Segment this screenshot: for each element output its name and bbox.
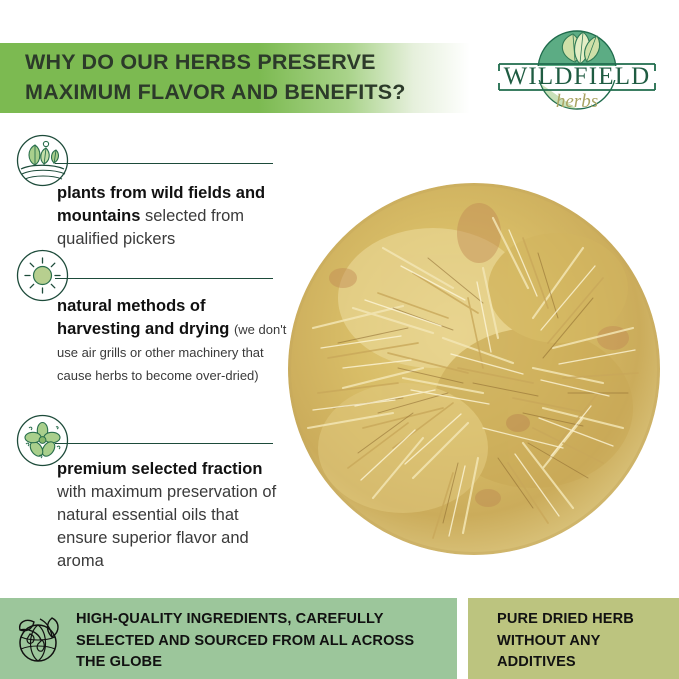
feature-strong-2: natural methods of harvesting and drying (57, 297, 229, 338)
globe-leaf-icon (12, 610, 68, 666)
banner-left: HIGH-QUALITY INGREDIENTS, CAREFULLY SELE… (0, 598, 457, 679)
page-title: WHY DO OUR HERBS PRESERVE MAXIMUM FLAVOR… (25, 47, 445, 107)
divider-rule-2 (55, 278, 273, 279)
feature-light-3: with maximum preservation of natural ess… (57, 483, 276, 570)
logo-wordmark: WILDFIELD (487, 64, 667, 89)
brand-logo: WILDFIELD herbs (487, 24, 667, 120)
feature-text-3: premium selected fraction with maximum p… (57, 458, 292, 573)
feature-strong-3: premium selected fraction (57, 460, 262, 478)
banner-right-text: PURE DRIED HERB WITHOUT ANY ADDITIVES (497, 609, 672, 674)
banner-left-text: HIGH-QUALITY INGREDIENTS, CAREFULLY SELE… (76, 609, 446, 674)
divider-rule-1 (55, 163, 273, 164)
feature-text-1: plants from wild fields and mountains se… (57, 182, 292, 251)
feature-text-2: natural methods of harvesting and drying… (57, 295, 292, 387)
divider-rule-3 (55, 443, 273, 444)
logo-subtitle: herbs (487, 92, 667, 111)
banner-right: PURE DRIED HERB WITHOUT ANY ADDITIVES (468, 598, 679, 679)
field-plants-icon (15, 133, 70, 188)
dried-herb-pile (283, 178, 665, 560)
